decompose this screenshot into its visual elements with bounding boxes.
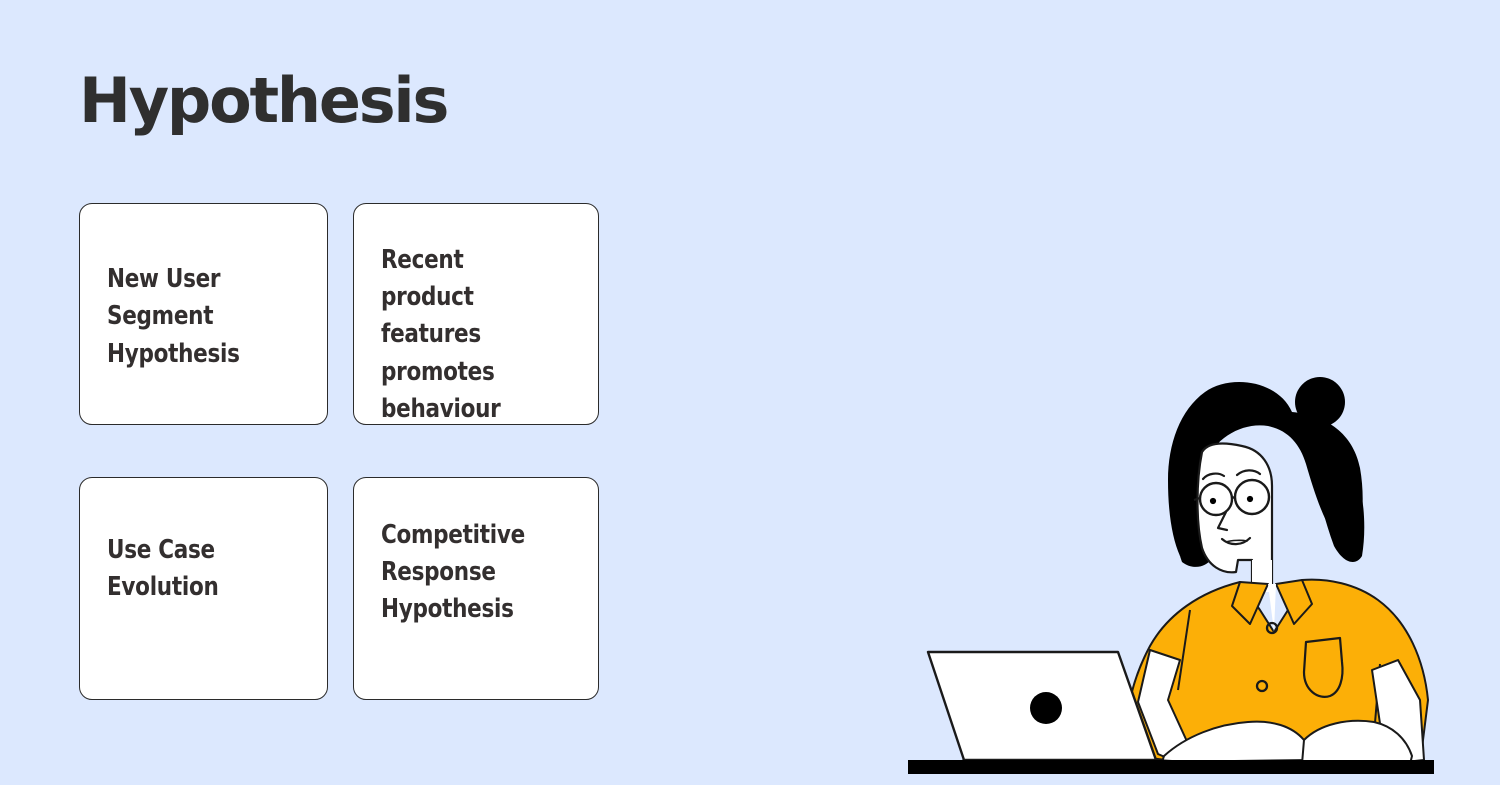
hypothesis-card-recent-product-features[interactable]: Recent product features promotes behavio… <box>353 203 599 425</box>
hypothesis-card-competitive-response[interactable]: Competitive Response Hypothesis <box>353 477 599 700</box>
hypothesis-card-new-user-segment[interactable]: New User Segment Hypothesis <box>79 203 328 425</box>
slide-canvas: Hypothesis New User Segment Hypothesis R… <box>0 0 1500 785</box>
hypothesis-card-label: Competitive Response Hypothesis <box>381 517 557 629</box>
hypothesis-card-label: New User Segment Hypothesis <box>107 261 285 373</box>
laptop-logo-icon <box>1030 692 1062 724</box>
desk-icon <box>908 760 1434 774</box>
page-title: Hypothesis <box>79 68 447 135</box>
hypothesis-card-label: Recent product features promotes behavio… <box>381 242 557 428</box>
hypothesis-card-grid: New User Segment Hypothesis Recent produ… <box>79 203 599 701</box>
shirt-pocket-icon <box>1304 638 1343 697</box>
woman-working-on-laptop-illustration <box>900 360 1500 785</box>
hypothesis-card-label: Use Case Evolution <box>107 532 285 606</box>
hypothesis-card-use-case-evolution[interactable]: Use Case Evolution <box>79 477 328 700</box>
